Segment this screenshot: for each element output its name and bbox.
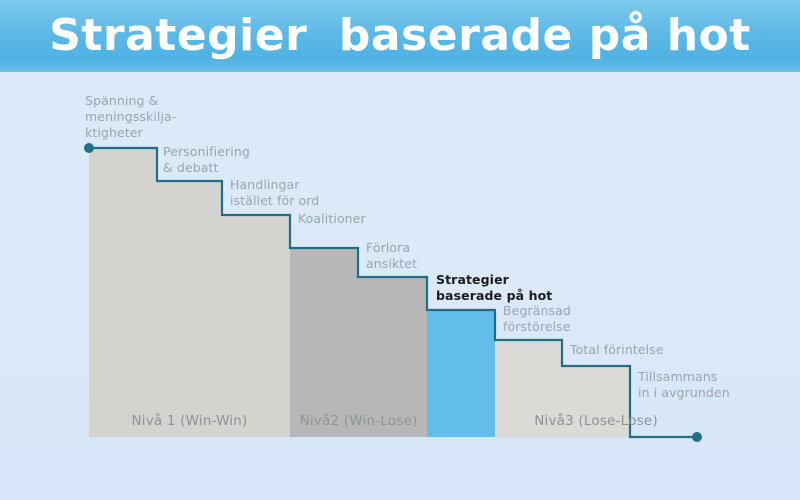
step-label-3: Handlingar istället för ord bbox=[230, 177, 319, 209]
level-label-2: Nivå2 (Win-Lose) bbox=[290, 413, 427, 429]
step-label-2: Personifiering & debatt bbox=[163, 144, 250, 176]
staircase-chart: Spänning & meningsskilja- ktigheter Pers… bbox=[0, 72, 800, 500]
step-label-9: Tillsammans in i avgrunden bbox=[638, 369, 730, 401]
step-label-5: Förlora ansiktet bbox=[366, 240, 417, 272]
level-label-1: Nivå 1 (Win-Win) bbox=[89, 413, 290, 429]
end-dot bbox=[692, 432, 702, 442]
step-label-1: Spänning & meningsskilja- ktigheter bbox=[85, 93, 176, 141]
level-label-3: Nivå3 (Lose-Lose) bbox=[495, 413, 697, 429]
page-title: Strategier baserade på hot bbox=[0, 6, 800, 66]
level-fill-group bbox=[89, 142, 697, 442]
step-label-6: Strategier baserade på hot bbox=[436, 272, 552, 304]
step-label-8: Total förintelse bbox=[570, 342, 664, 358]
slide-root: Strategier baserade på hot Spännin bbox=[0, 0, 800, 500]
step-label-4: Koalitioner bbox=[298, 211, 366, 227]
step-label-7: Begränsad förstörelse bbox=[503, 303, 571, 335]
start-dot bbox=[84, 143, 94, 153]
